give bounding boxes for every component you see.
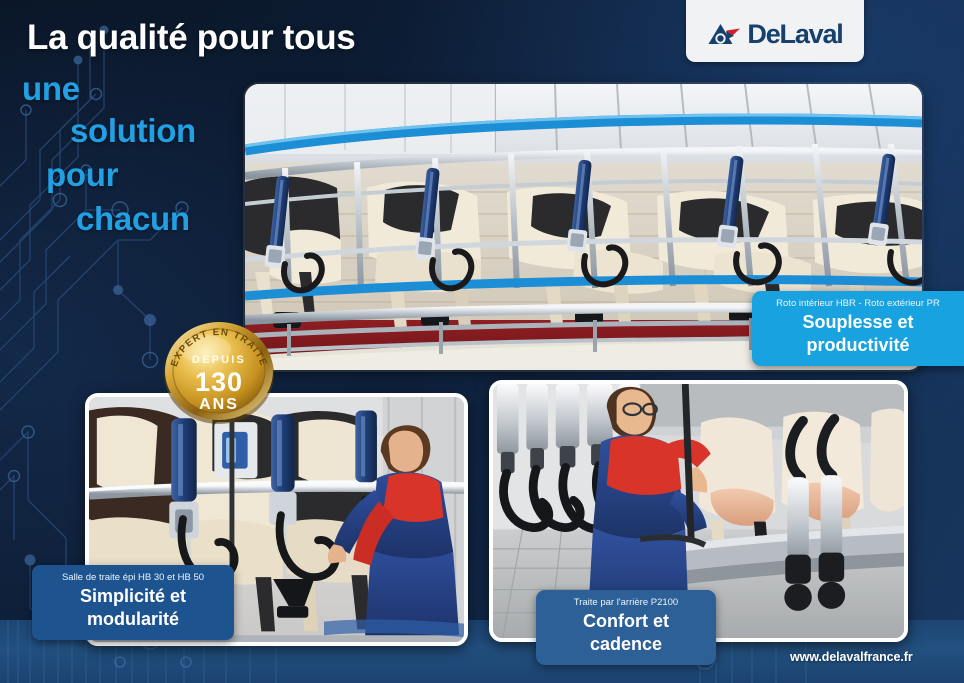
headline-accent-line-2: solution	[70, 112, 196, 150]
caption-rear-title-1: Confort et	[552, 611, 700, 632]
gold-medallion-icon: EXPERT EN TRAITE DEPUIS 130 ANS	[161, 317, 277, 425]
caption-rotary-kicker: Roto intérieur HBR - Roto extérieur PR	[768, 297, 948, 310]
anniversary-medallion: EXPERT EN TRAITE DEPUIS 130 ANS	[161, 317, 277, 425]
caption-herringbone-title-1: Simplicité et	[48, 586, 218, 607]
caption-rotary-title-2: productivité	[768, 335, 948, 356]
headline-accent-line-3: pour	[46, 156, 118, 194]
delaval-logo-wordmark: DeLaval	[747, 19, 842, 50]
medallion-depuis-text: DEPUIS	[192, 354, 246, 366]
poster-canvas: La qualité pour tous une solution pour c…	[0, 0, 964, 683]
headline-accent-line-1: une	[22, 70, 80, 108]
delaval-triangle-logo-icon	[707, 22, 743, 48]
medallion-years-number: 130	[195, 367, 243, 397]
caption-rear: Traite par l'arrière P2100 Confort et ca…	[536, 590, 716, 665]
caption-herringbone-kicker: Salle de traite épi HB 30 et HB 50	[48, 571, 218, 584]
caption-herringbone: Salle de traite épi HB 30 et HB 50 Simpl…	[32, 565, 234, 640]
website-url[interactable]: www.delavalfrance.fr	[790, 650, 913, 664]
delaval-logo[interactable]: DeLaval	[686, 0, 864, 62]
caption-rotary-title-1: Souplesse et	[768, 312, 948, 333]
headline-accent-line-4: chacun	[76, 200, 190, 238]
medallion-ans-text: ANS	[199, 396, 239, 413]
caption-rear-title-2: cadence	[552, 634, 700, 655]
caption-herringbone-title-2: modularité	[48, 609, 218, 630]
caption-rotary: Roto intérieur HBR - Roto extérieur PR S…	[752, 291, 964, 366]
page-title: La qualité pour tous	[27, 18, 355, 58]
caption-rear-kicker: Traite par l'arrière P2100	[552, 596, 700, 609]
